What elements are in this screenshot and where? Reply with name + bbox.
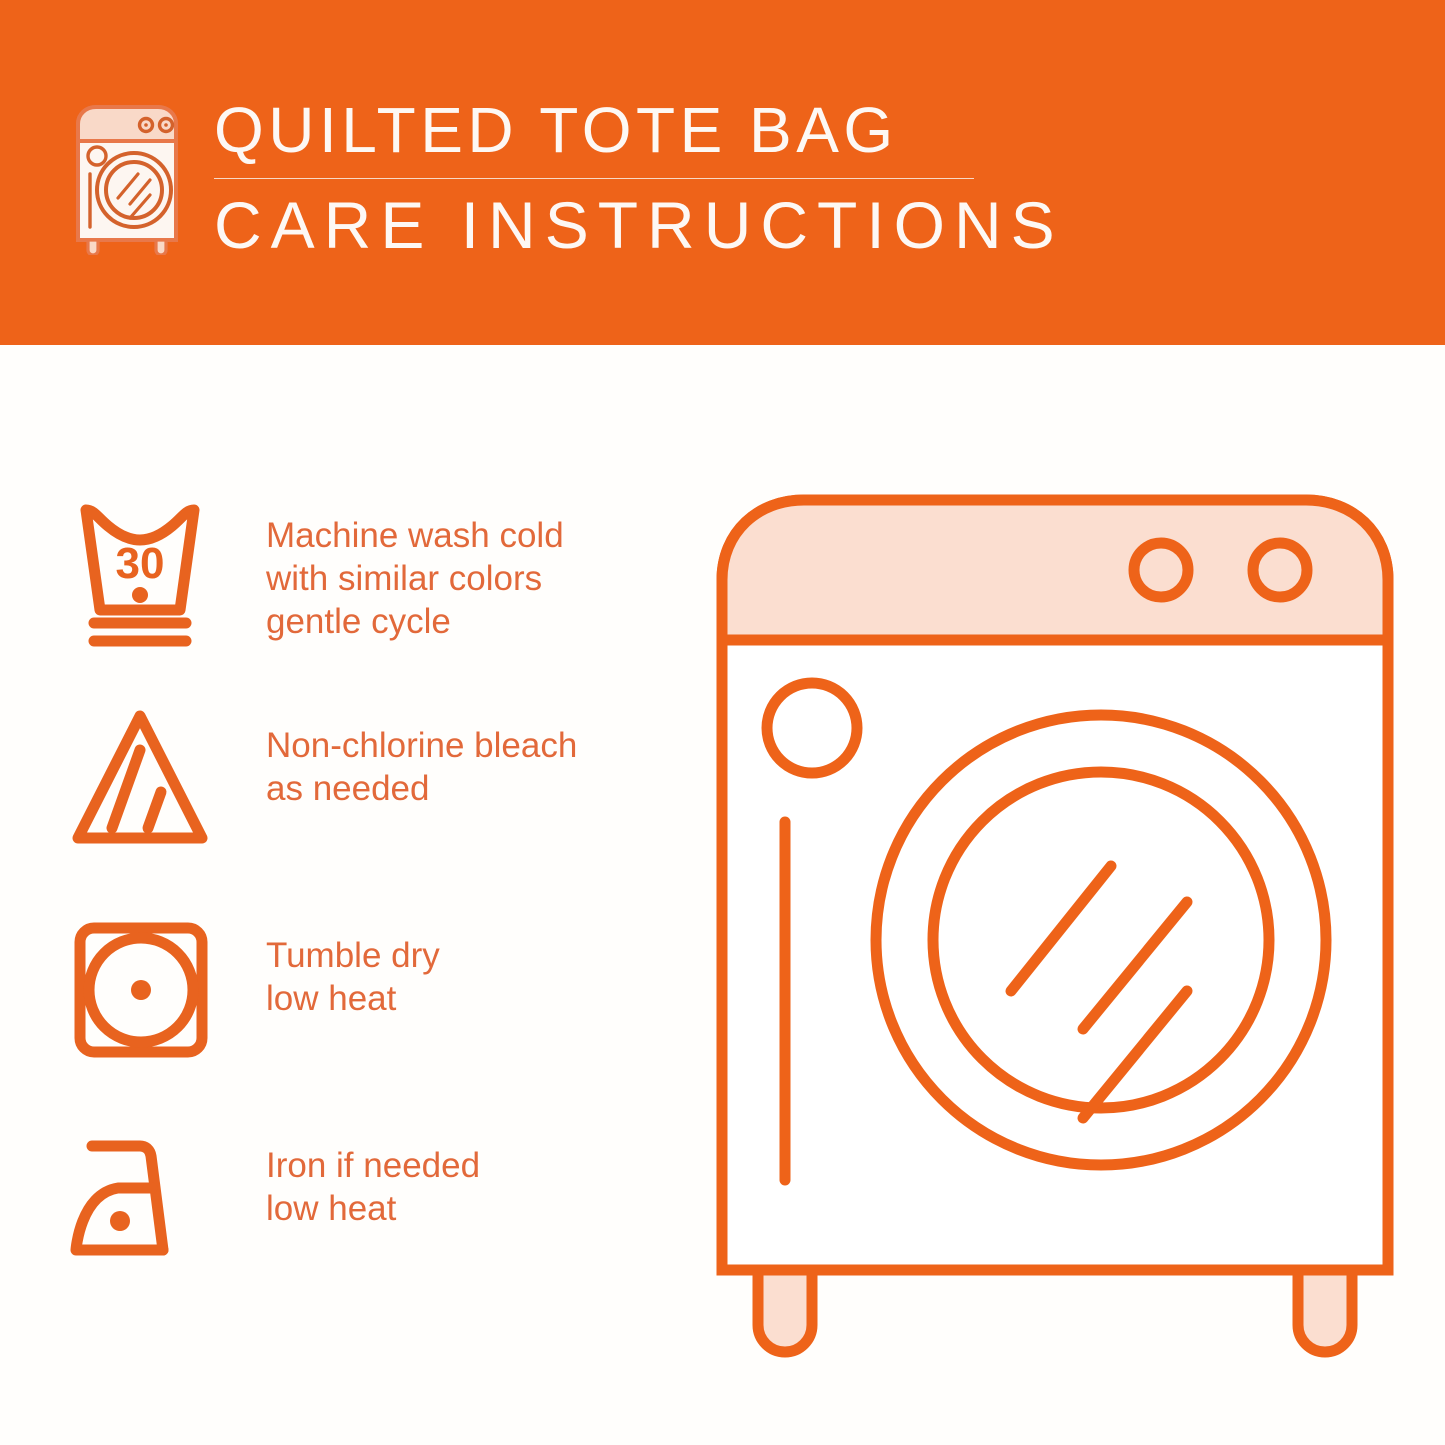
page-title: QUILTED TOTE BAG [214, 98, 1388, 162]
washing-machine-illustration [700, 470, 1410, 1370]
list-item: Tumble dry low heat [68, 912, 678, 1122]
list-item-label: Iron if needed low heat [266, 1122, 480, 1230]
top-control-panel [722, 500, 1388, 640]
machine-wash-30-gentle-icon: 30 [68, 492, 238, 652]
label-line: as needed [266, 767, 577, 810]
list-item-label: Non-chlorine bleach as needed [266, 702, 577, 810]
list-item-label: Tumble dry low heat [266, 912, 440, 1020]
foot-right [1298, 1270, 1352, 1352]
label-line: Tumble dry [266, 934, 440, 977]
label-line: low heat [266, 977, 440, 1020]
wash-temperature-value: 30 [116, 539, 165, 588]
care-instructions-infographic: QUILTED TOTE BAG CARE INSTRUCTIONS 3 [0, 0, 1445, 1445]
list-item: 30 Machine wash cold with similar colors… [68, 492, 678, 702]
label-line: Iron if needed [266, 1144, 480, 1187]
header-band: QUILTED TOTE BAG CARE INSTRUCTIONS [0, 0, 1445, 345]
list-item: Iron if needed low heat [68, 1122, 678, 1332]
label-line: low heat [266, 1187, 480, 1230]
list-item: Non-chlorine bleach as needed [68, 702, 678, 912]
header-title-group: QUILTED TOTE BAG CARE INSTRUCTIONS [214, 96, 1388, 259]
washing-machine-icon [68, 100, 186, 255]
non-chlorine-bleach-icon [68, 702, 238, 862]
label-line: Non-chlorine bleach [266, 724, 577, 767]
page-subtitle: CARE INSTRUCTIONS [214, 191, 1388, 259]
title-divider [214, 178, 974, 179]
care-symbol-list: 30 Machine wash cold with similar colors… [68, 492, 678, 1332]
foot-left [758, 1270, 812, 1352]
header-content: QUILTED TOTE BAG CARE INSTRUCTIONS [68, 96, 1388, 261]
iron-low-icon [68, 1122, 238, 1282]
tumble-dry-low-icon [68, 912, 238, 1072]
label-line: with similar colors [266, 557, 564, 600]
label-line: Machine wash cold [266, 514, 564, 557]
label-line: gentle cycle [266, 600, 564, 643]
list-item-label: Machine wash cold with similar colors ge… [266, 492, 564, 643]
